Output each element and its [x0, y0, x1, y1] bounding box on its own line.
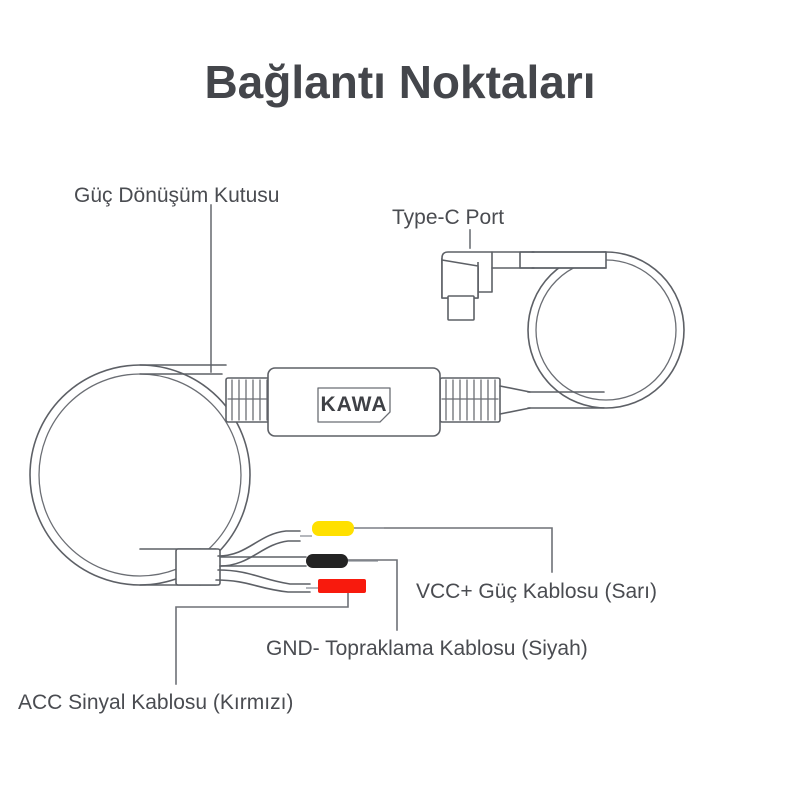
terminal-vcc	[312, 521, 354, 536]
diagram-canvas: Bağlantı Noktaları	[0, 0, 800, 800]
wire-harness	[176, 521, 384, 593]
strain-relief-right-icon	[440, 378, 530, 422]
leader-vcc	[352, 528, 552, 572]
label-acc-wire: ACC Sinyal Kablosu (Kırmızı)	[18, 691, 293, 714]
power-conversion-box: KAWA	[268, 368, 440, 436]
terminal-gnd	[306, 554, 348, 568]
label-vcc-wire: VCC+ Güç Kablosu (Sarı)	[416, 580, 657, 603]
wiring-diagram: Bağlantı Noktaları	[0, 0, 800, 800]
terminal-acc	[318, 579, 366, 593]
brand-logo: KAWA	[321, 393, 388, 416]
cable-coil-right	[520, 252, 684, 408]
strain-relief-left-icon	[226, 378, 270, 422]
page-title: Bağlantı Noktaları	[204, 56, 595, 108]
leader-gnd	[341, 560, 397, 630]
leader-acc	[176, 586, 348, 684]
wire-acc	[216, 570, 366, 593]
label-gnd-wire: GND- Topraklama Kablosu (Siyah)	[266, 637, 588, 660]
label-type-c-port: Type-C Port	[392, 206, 504, 229]
label-power-box: Güç Dönüşüm Kutusu	[74, 184, 279, 207]
